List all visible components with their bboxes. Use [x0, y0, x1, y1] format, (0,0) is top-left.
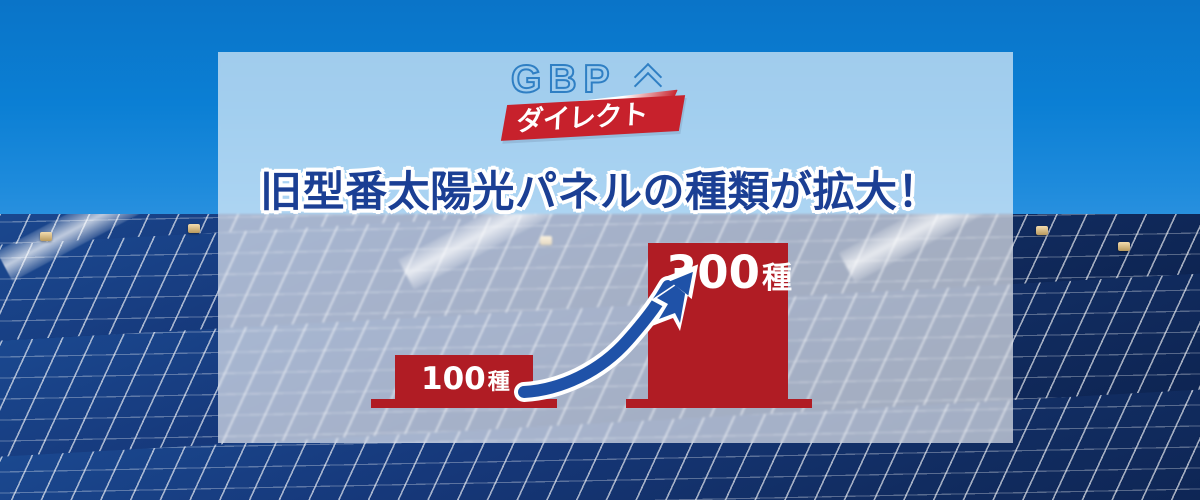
page-title: 旧型番太陽光パネルの種類が拡大！: [0, 158, 1200, 219]
panel-clip-icon: [1118, 242, 1130, 251]
panel-clip-icon: [188, 224, 200, 233]
double-chevron-up-icon: [638, 65, 664, 91]
panel-clip-icon: [1036, 226, 1048, 235]
panel-clip-icon: [40, 232, 52, 241]
logo-gbp-text: GBP: [511, 60, 617, 99]
hero-banner: GBP ダイレクト 旧型番太陽光パネルの種類が拡大！ 100種 300種: [0, 0, 1200, 500]
brand-logo[interactable]: GBP ダイレクト: [497, 60, 707, 144]
